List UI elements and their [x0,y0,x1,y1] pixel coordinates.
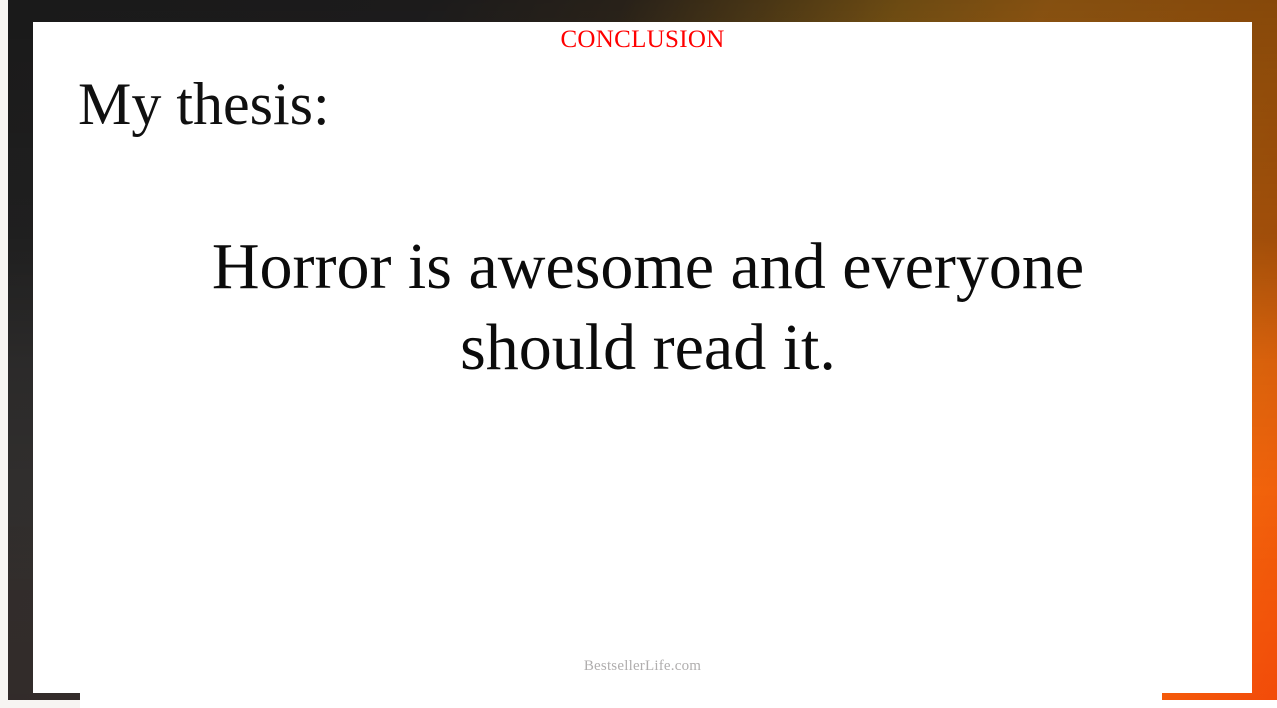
slide-frame: CONCLUSION My thesis: Horror is awesome … [8,0,1277,700]
bottom-border-gap [80,688,1162,708]
bottom-right-outer-margin [1162,700,1277,708]
thesis-statement-line-2: should read it. [128,308,1168,389]
thesis-lead-in-text: My thesis: [78,70,330,139]
section-label: CONCLUSION [33,26,1252,54]
thesis-statement: Horror is awesome and everyone should re… [128,227,1168,388]
thesis-statement-line-1: Horror is awesome and everyone [128,227,1168,308]
footer-watermark: BestsellerLife.com [33,658,1252,675]
bottom-left-outer-margin [0,694,8,708]
slide-canvas: CONCLUSION My thesis: Horror is awesome … [33,22,1252,693]
